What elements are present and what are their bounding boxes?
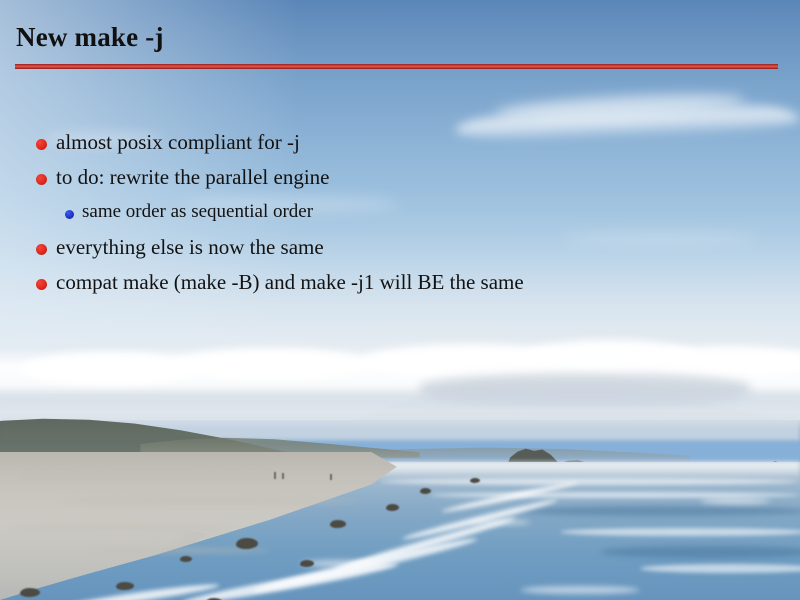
distant-figure bbox=[282, 473, 284, 479]
bullet-marker-red bbox=[36, 279, 47, 290]
distant-surf bbox=[330, 462, 800, 478]
distant-figure bbox=[330, 474, 332, 480]
wave-crest bbox=[430, 492, 800, 498]
bullet-marker-red bbox=[36, 139, 47, 150]
bullet-list: almost posix compliant for -j to do: rew… bbox=[0, 130, 800, 305]
list-item-label: everything else is now the same bbox=[56, 235, 324, 260]
bullet-marker-red bbox=[36, 244, 47, 255]
list-item: almost posix compliant for -j bbox=[0, 130, 800, 165]
wave-crest bbox=[380, 478, 800, 485]
bullet-marker-blue bbox=[65, 210, 74, 219]
page-title: New make -j bbox=[16, 22, 164, 53]
list-item: to do: rewrite the parallel engine bbox=[0, 165, 800, 200]
title-underline-rule bbox=[15, 64, 778, 69]
sand-texture bbox=[60, 498, 360, 504]
slide: New make -j almost posix compliant for -… bbox=[0, 0, 800, 600]
sand-texture bbox=[20, 474, 280, 479]
wave-crest bbox=[560, 528, 800, 536]
sea-glint bbox=[700, 498, 770, 504]
cloud-lump bbox=[20, 352, 200, 386]
cloud-lump bbox=[170, 348, 370, 380]
list-item-label: same order as sequential order bbox=[82, 201, 313, 223]
list-item-sub: same order as sequential order bbox=[0, 200, 800, 235]
bullet-marker-red bbox=[36, 174, 47, 185]
list-item-label: to do: rewrite the parallel engine bbox=[56, 165, 329, 190]
list-item-label: almost posix compliant for -j bbox=[56, 130, 300, 155]
sea-glint bbox=[520, 586, 640, 594]
list-item-label: compat make (make -B) and make -j1 will … bbox=[56, 270, 524, 295]
list-item: compat make (make -B) and make -j1 will … bbox=[0, 270, 800, 305]
list-item: everything else is now the same bbox=[0, 235, 800, 270]
wave-trough bbox=[520, 506, 800, 516]
distant-figure bbox=[274, 472, 276, 479]
